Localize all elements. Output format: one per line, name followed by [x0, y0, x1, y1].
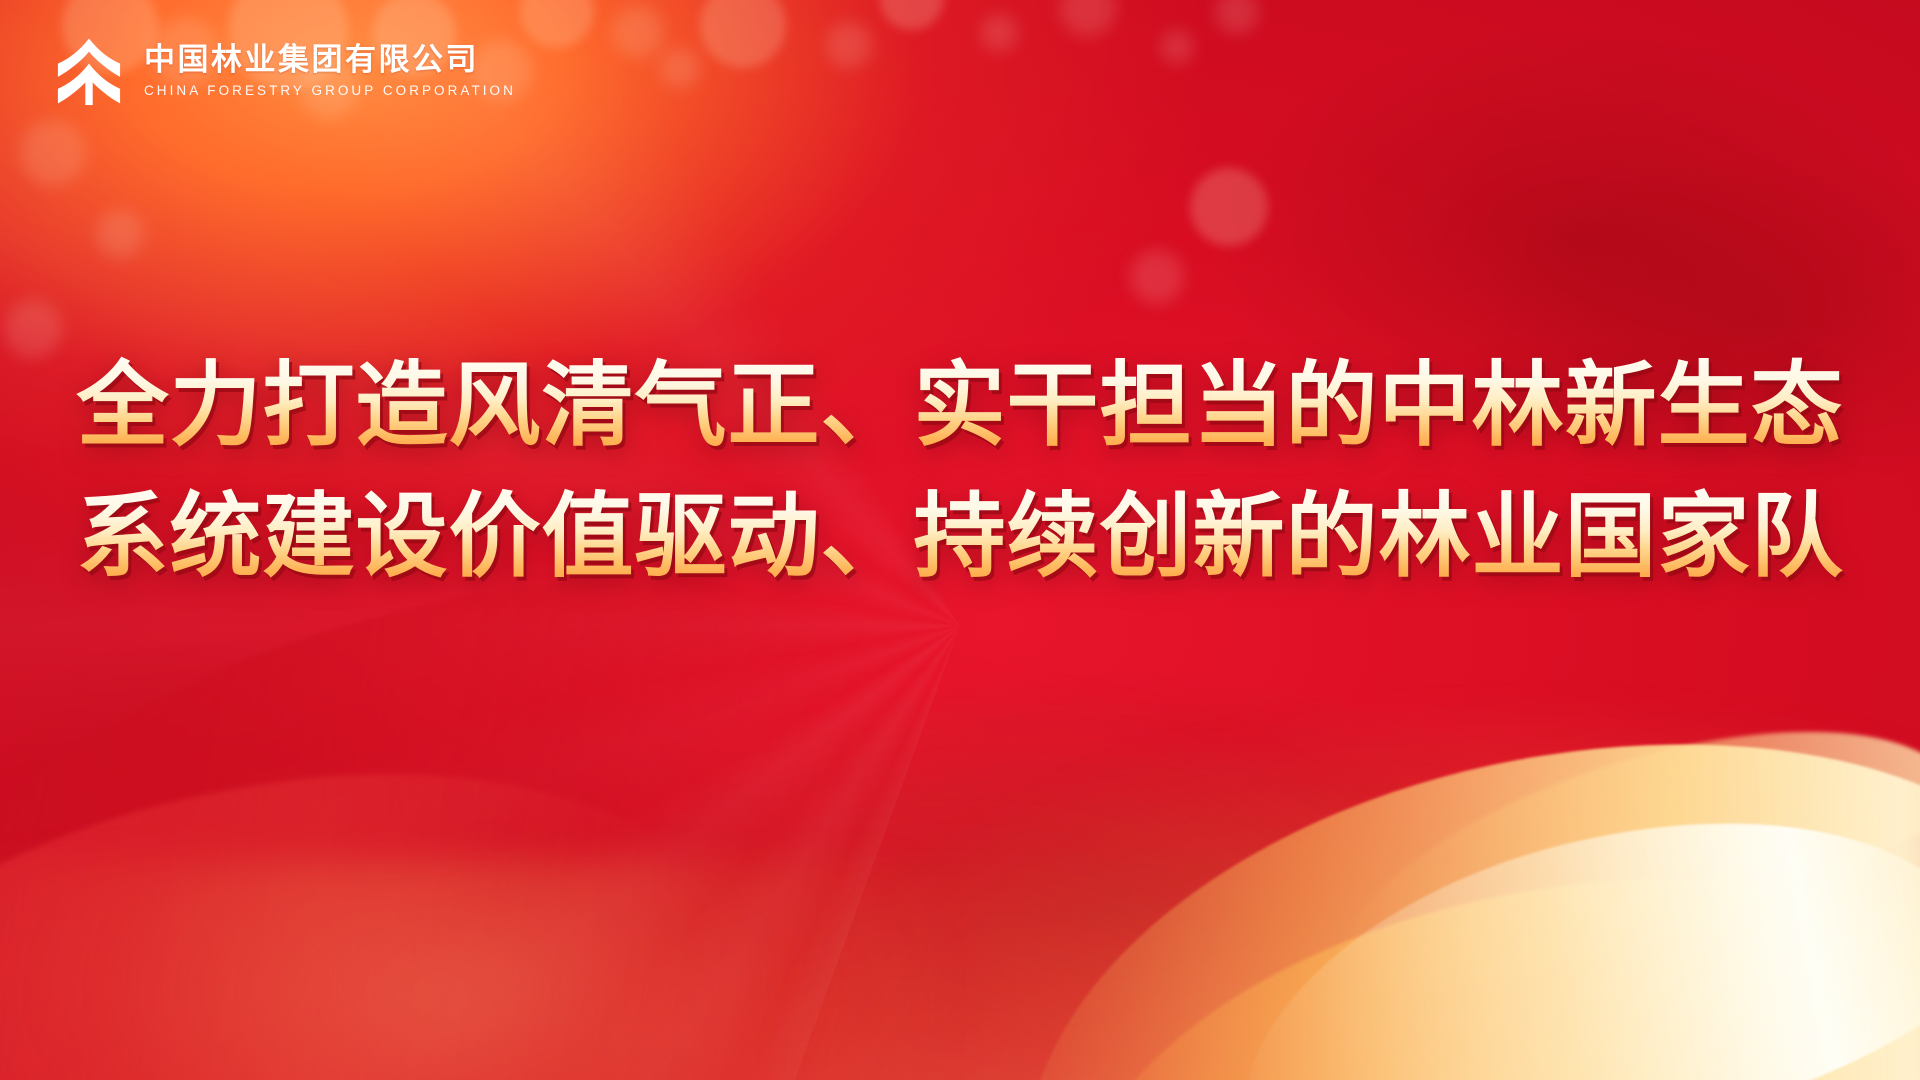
crimson-wave-left-secondary	[0, 737, 823, 1080]
bokeh-circle	[612, 6, 664, 58]
bokeh-circle	[1130, 250, 1184, 304]
bokeh-circle	[1190, 168, 1268, 246]
bokeh-circle	[700, 0, 786, 68]
gold-ribbon-2	[1033, 816, 1920, 1080]
poster-canvas: 中国林业集团有限公司 CHINA FORESTRY GROUP CORPORAT…	[0, 0, 1920, 1080]
bokeh-circle	[880, 0, 944, 30]
center-glow	[210, 660, 1710, 1080]
bokeh-circle	[1160, 30, 1194, 64]
headline-line-1: 全力打造风清气正、实干担当的中林新生态	[76, 352, 1843, 461]
brand-logo[interactable]: 中国林业集团有限公司 CHINA FORESTRY GROUP CORPORAT…	[52, 34, 516, 108]
bokeh-circle	[826, 22, 872, 68]
bokeh-circle	[980, 14, 1018, 52]
bokeh-circle	[20, 120, 86, 186]
brand-logo-text: 中国林业集团有限公司 CHINA FORESTRY GROUP CORPORAT…	[144, 43, 516, 99]
bokeh-circle	[520, 0, 594, 48]
bokeh-circle	[660, 48, 700, 88]
headline-block: 全力打造风清气正、实干担当的中林新生态 系统建设价值驱动、持续创新的林业国家队	[0, 352, 1920, 591]
bokeh-circle	[1215, 0, 1259, 34]
gold-ribbon-4	[1308, 670, 1920, 1029]
bokeh-circle	[96, 210, 144, 258]
crimson-wave-left	[0, 523, 1068, 1080]
bokeh-circle	[4, 300, 62, 358]
headline-line-2: 系统建设价值驱动、持续创新的林业国家队	[76, 483, 1843, 592]
brand-name-cn: 中国林业集团有限公司	[144, 43, 516, 78]
bottom-right-gold-glow	[770, 700, 1920, 1080]
brand-name-en: CHINA FORESTRY GROUP CORPORATION	[144, 83, 516, 99]
bokeh-circle	[1060, 0, 1116, 36]
bottom-left-gold-glow	[0, 860, 940, 1080]
forestry-tree-mountain-logo-icon	[52, 34, 126, 108]
gold-ribbon-3	[1195, 753, 1920, 1080]
gold-ribbon-1	[963, 653, 1920, 1080]
